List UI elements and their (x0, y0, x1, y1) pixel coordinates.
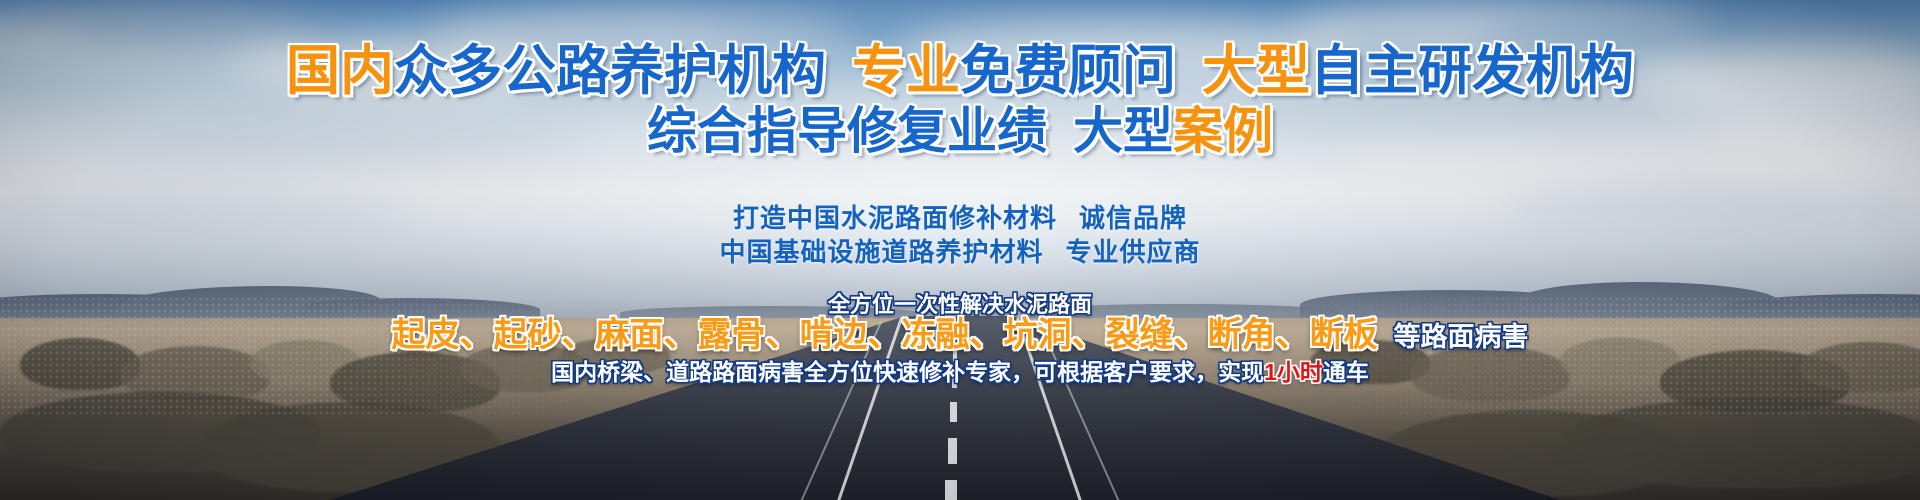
headline1-seg-daxing: 大型 (1202, 41, 1310, 101)
subtitle1-tail: 诚信品牌 (1079, 203, 1187, 233)
subtitle2-main: 中国基础设施道路养护材料 (719, 237, 1043, 267)
bottom-line2-prefix: 国内桥梁、道路路面病害全方位快速修补专家，可根据客户要求，实现 (551, 359, 1264, 385)
subtitle1-main: 打造中国水泥路面修补材料 (733, 203, 1057, 233)
headline1-seg-mianfei: 免费顾问 (960, 41, 1176, 101)
bottom-line-2: 国内桥梁、道路路面病害全方位快速修补专家，可根据客户要求，实现1小时通车 (0, 361, 1920, 384)
bottom-line2-highlight: 1小时 (1264, 359, 1323, 385)
bottom-line0-text: 全方位一次性解决水泥路面 (828, 292, 1092, 317)
headline1-seg-zhuanye: 专业 (852, 41, 960, 101)
bottom-line-0: 全方位一次性解决水泥路面 (0, 294, 1920, 316)
banner-content: 国内众多公路养护机构专业免费顾问大型自主研发机构 综合指导修复业绩大型案例 打造… (0, 0, 1920, 500)
headline2-seg-daxing: 大型 (1073, 103, 1173, 159)
headline-line-2: 综合指导修复业绩大型案例 (0, 106, 1920, 156)
subtitle-line-1: 打造中国水泥路面修补材料诚信品牌 (0, 198, 1920, 235)
headline1-seg-guonei: 国内 (286, 41, 394, 101)
subtitle-line-2: 中国基础设施道路养护材料专业供应商 (0, 232, 1920, 269)
headline1-seg-zizhu: 自主研发机构 (1310, 41, 1634, 101)
bottom-line-1: 起皮、起砂、麻面、露骨、啃边、冻融、坑洞、裂缝、断角、断板等路面病害 (0, 318, 1920, 352)
headline-line-1: 国内众多公路养护机构专业免费顾问大型自主研发机构 (0, 44, 1920, 98)
bottom-line2-suffix: 通车 (1323, 359, 1369, 385)
headline1-seg-zhongduo: 众多公路养护机构 (394, 41, 826, 101)
defect-list-tail: 等路面病害 (1394, 322, 1529, 352)
defect-list-text: 起皮、起砂、麻面、露骨、啃边、冻融、坑洞、裂缝、断角、断板 (392, 316, 1378, 354)
subtitle2-tail: 专业供应商 (1066, 237, 1201, 267)
headline2-seg-anli: 案例 (1173, 103, 1273, 159)
promo-banner: 国内众多公路养护机构专业免费顾问大型自主研发机构 综合指导修复业绩大型案例 打造… (0, 0, 1920, 500)
headline2-seg-zonghe: 综合指导修复业绩 (647, 103, 1047, 159)
